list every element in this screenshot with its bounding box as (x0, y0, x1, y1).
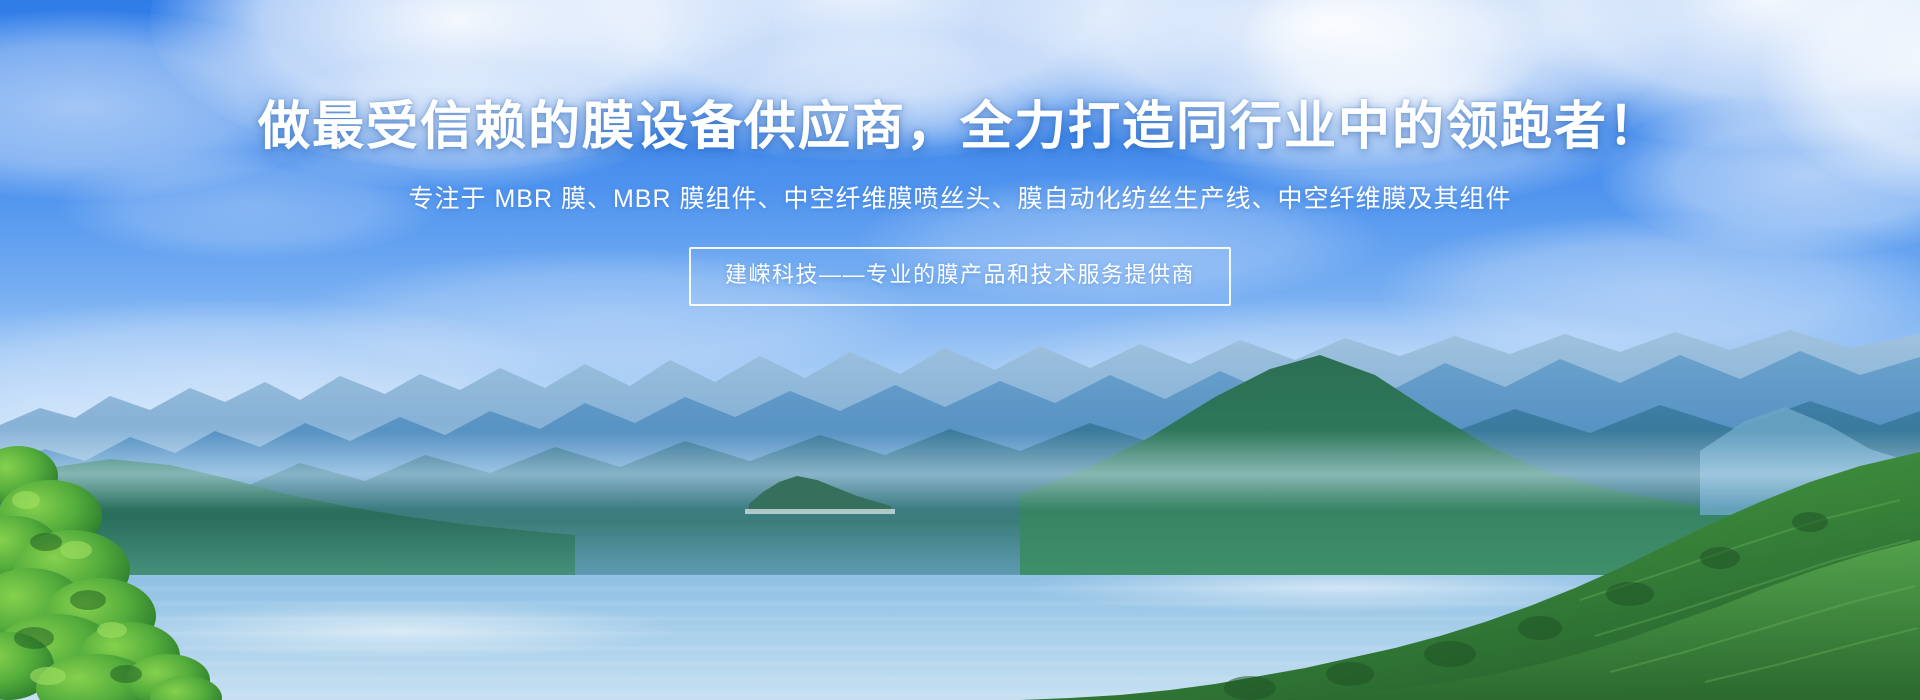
foreground-left-foliage (0, 430, 300, 700)
tagline-text: 建嵘科技——专业的膜产品和技术服务提供商 (725, 262, 1195, 287)
lake-islet (745, 468, 895, 516)
foreground-right-hillside (1020, 390, 1920, 700)
tagline-box[interactable]: 建嵘科技——专业的膜产品和技术服务提供商 (689, 247, 1231, 305)
hero-banner: 做最受信赖的膜设备供应商，全力打造同行业中的领跑者！ 专注于 MBR 膜、MBR… (0, 0, 1920, 700)
